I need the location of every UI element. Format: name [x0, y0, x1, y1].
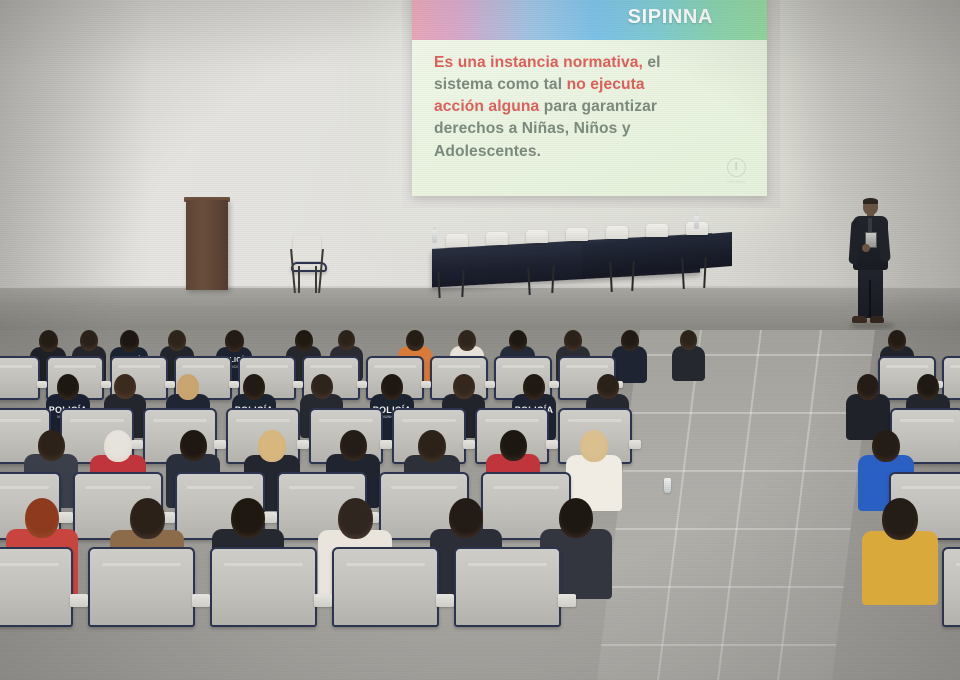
seat-armrest [297, 440, 309, 449]
audience-member-head [25, 498, 59, 538]
auditorium-seat[interactable] [88, 547, 195, 627]
seat-armrest [357, 381, 367, 388]
presenter-shadow [849, 322, 895, 329]
auditorium-seat[interactable] [942, 356, 960, 400]
presenter-leg-split [869, 280, 871, 318]
slide-line: derechos a Niñas, Niños y [434, 118, 745, 140]
audience-member-head [418, 430, 446, 462]
audience-member-head [39, 330, 58, 352]
audience-member-head [500, 430, 527, 461]
seat-armrest [546, 440, 558, 449]
slide-line: acción alguna para garantizar [434, 96, 745, 118]
audience-member-head [580, 430, 608, 462]
seat-armrest [314, 594, 332, 607]
slide-plain-text: derechos a Niñas, Niños y [434, 120, 631, 137]
podium-lectern [186, 200, 228, 290]
seat-armrest [293, 381, 303, 388]
audience-member-head [509, 330, 527, 351]
seat-armrest [485, 381, 495, 388]
audience-member-head [295, 330, 313, 351]
logo-label: SIPINNA [721, 179, 751, 184]
auditorium-seat[interactable] [0, 356, 40, 400]
floor-tile-line [616, 528, 851, 530]
projection-screen: SIPINNA Es una instancia normativa, elsi… [412, 0, 767, 196]
seat-armrest [229, 381, 239, 388]
seat-armrest [549, 381, 559, 388]
seat-armrest [165, 381, 175, 388]
presenter-figure [847, 198, 895, 328]
presenter-hand-with-microphone [862, 244, 870, 252]
slide-plain-text: Adolescentes. [434, 143, 541, 160]
slide-plain-text: para garantizar [539, 98, 657, 115]
floor-tile-line [657, 330, 701, 680]
head-table-chair [606, 226, 628, 239]
audience-member-head [225, 330, 244, 352]
presenter-shoe-left [852, 316, 867, 323]
audience-member-head [449, 498, 483, 538]
presenter-hair [863, 198, 878, 204]
head-table-chair [446, 234, 468, 247]
audience-member-head [888, 330, 906, 351]
seat-armrest [37, 381, 47, 388]
slide-plain-text: el [643, 54, 661, 71]
seat-armrest [101, 381, 111, 388]
auditorium-scene: SIPINNA Es una instancia normativa, elsi… [0, 0, 960, 680]
audience-member-torso [672, 346, 705, 381]
table-leg [703, 257, 707, 288]
slide-title: SIPINNA [628, 6, 767, 29]
audience-member-head [57, 374, 79, 400]
audience-member-head [458, 330, 476, 351]
auditorium-seat[interactable] [210, 547, 317, 627]
seat-armrest [192, 594, 210, 607]
logo-ring [727, 158, 746, 177]
presenter-shoe-right [870, 316, 884, 323]
slide-highlight-text: acción alguna [434, 98, 539, 115]
slide-line: Adolescentes. [434, 141, 745, 163]
audience-member-head [177, 374, 199, 400]
slide-line: Es una instancia normativa, el [434, 52, 745, 74]
slide-plain-text: sistema como tal [434, 76, 567, 93]
audience-member-head [381, 374, 403, 400]
auditorium-seat[interactable] [0, 547, 73, 627]
slide-highlight-text: no ejecuta [567, 76, 645, 93]
slide-text-block: Es una instancia normativa, elsistema co… [434, 52, 745, 163]
seat-armrest [58, 512, 73, 523]
chair-leg [298, 266, 300, 293]
floor-tile-line [777, 330, 821, 680]
audience-member-head [38, 430, 65, 461]
audience-member-head [621, 330, 639, 351]
audience-member-head [882, 498, 918, 540]
seat-armrest [214, 440, 226, 449]
floor-tile-line [623, 470, 858, 472]
chair-leg [315, 266, 317, 293]
audience-member-head [406, 330, 424, 351]
seat-armrest [70, 594, 88, 607]
audience-member-torso [862, 531, 938, 605]
audience-member-head [180, 430, 207, 461]
head-table-chair [486, 232, 508, 245]
audience-member-head [114, 374, 136, 399]
audience-member-head [597, 374, 619, 399]
audience-member-head [917, 374, 939, 400]
audience-member-head [338, 498, 373, 539]
audience-member-head [243, 374, 265, 400]
slide-line: sistema como tal no ejecuta [434, 74, 745, 96]
audience-member-head [857, 374, 879, 400]
seat-armrest [421, 381, 431, 388]
table-water-bottle [432, 230, 437, 243]
floor-tile-line [630, 412, 865, 414]
sipinna-logo-watermark: SIPINNA [721, 158, 751, 188]
folding-chair-back [293, 235, 321, 261]
audience-member-head [564, 330, 582, 351]
audience-member-head [104, 430, 132, 462]
seat-armrest [629, 440, 641, 449]
audience-member-head [168, 330, 186, 351]
audience-member-head [453, 374, 475, 399]
audience-member-head [231, 498, 265, 538]
floor-tile-line [608, 586, 843, 588]
water-bottle-on-floor [664, 478, 671, 493]
audience-seating-area: POLICÍAMUNICIPALPOLICÍAMUNICIPALPOLICÍAM… [0, 330, 960, 680]
seat-armrest [131, 440, 143, 449]
head-table-chair [566, 228, 588, 241]
audience-member-head [80, 330, 98, 351]
audience-member-head [523, 374, 545, 400]
slide-body: Es una instancia normativa, elsistema co… [412, 40, 767, 196]
floor-tile-line [601, 644, 836, 646]
seat-armrest [380, 440, 392, 449]
head-table-chair [526, 230, 548, 243]
audience-member-head [680, 330, 697, 350]
auditorium-seat[interactable] [332, 547, 439, 627]
folding-chair [288, 235, 326, 293]
audience-member-head [340, 430, 367, 461]
auditorium-seat[interactable] [942, 547, 960, 627]
audience-member-head [872, 430, 900, 462]
head-table-chair [646, 224, 668, 237]
audience-member-torso [612, 346, 647, 383]
audience-member-head [130, 498, 165, 539]
table-water-bottle [694, 216, 699, 229]
audience-member-head [338, 330, 355, 350]
floor-tile-line [717, 330, 761, 680]
audience-member-head [258, 430, 286, 462]
presenter-lanyard [868, 218, 872, 233]
seat-armrest [436, 594, 454, 607]
head-table [432, 232, 732, 294]
audience-member-head [120, 330, 139, 352]
audience-member-head [311, 374, 333, 399]
seat-armrest [463, 440, 475, 449]
seat-armrest [558, 594, 576, 607]
slide-highlight-text: Es una instancia normativa, [434, 54, 643, 71]
slide-header-bar: SIPINNA [412, 0, 767, 40]
audience-member-head [559, 498, 593, 538]
auditorium-seat[interactable] [454, 547, 561, 627]
